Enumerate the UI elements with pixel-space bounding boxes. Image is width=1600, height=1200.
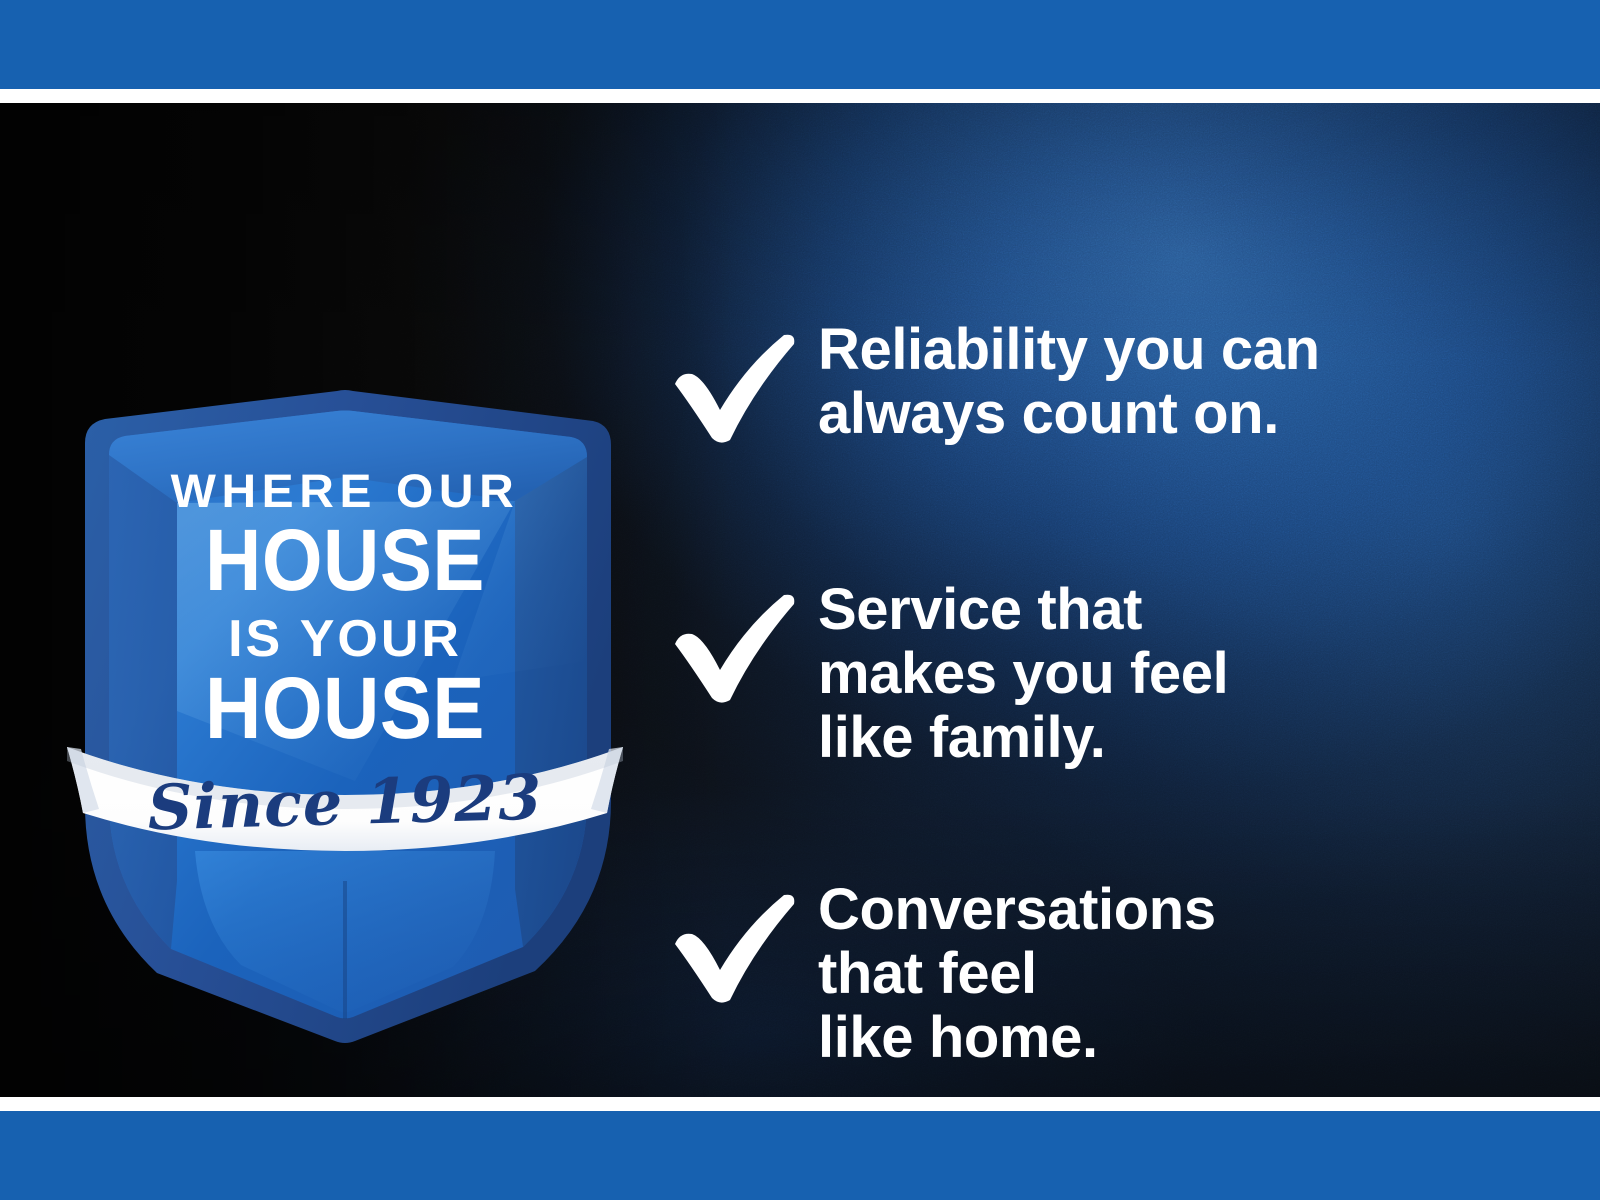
- shield-centre-crease: [343, 881, 347, 1019]
- main-stage: WHERE OUR HOUSE IS YOUR HOUSE Since 1923…: [0, 103, 1600, 1097]
- list-item: Conversations that feel like home.: [668, 878, 1216, 1069]
- list-item-label: Reliability you can always count on.: [818, 318, 1320, 446]
- brand-emblem: WHERE OUR HOUSE IS YOUR HOUSE Since 1923: [55, 381, 635, 1061]
- bottom-brand-band: [0, 1111, 1600, 1200]
- emblem-line-1: WHERE OUR: [49, 467, 641, 514]
- checkmark-icon: [668, 878, 818, 1004]
- benefits-list: Reliability you can always count on. Ser…: [668, 288, 1548, 1097]
- emblem-line-2: HOUSE: [55, 516, 635, 603]
- top-white-divider: [0, 89, 1600, 103]
- emblem-line-3: IS YOUR: [55, 613, 635, 665]
- promotional-banner: WHERE OUR HOUSE IS YOUR HOUSE Since 1923…: [0, 0, 1600, 1200]
- checkmark-icon: [668, 578, 818, 704]
- top-brand-band: [0, 0, 1600, 89]
- checkmark-icon: [668, 318, 818, 444]
- bottom-white-divider: [0, 1097, 1600, 1111]
- list-item: Reliability you can always count on.: [668, 318, 1320, 446]
- list-item-label: Conversations that feel like home.: [818, 878, 1216, 1069]
- list-item: Service that makes you feel like family.: [668, 578, 1228, 769]
- emblem-line-4: HOUSE: [55, 664, 635, 751]
- list-item-label: Service that makes you feel like family.: [818, 578, 1228, 769]
